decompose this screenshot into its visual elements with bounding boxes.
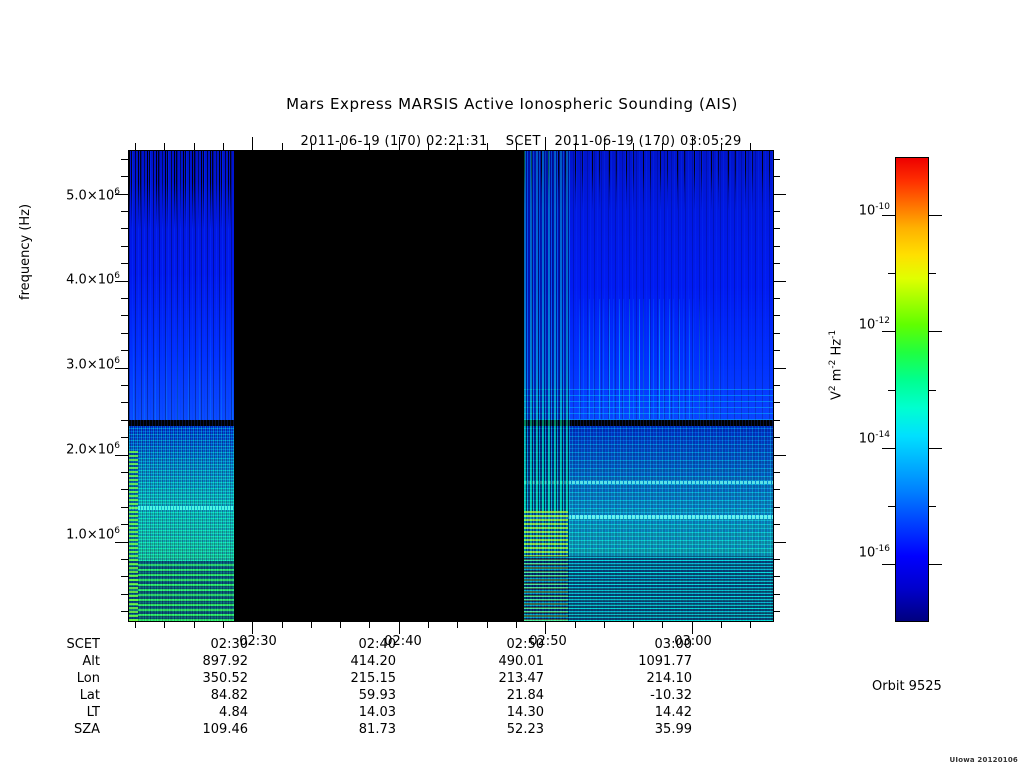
y-tick-right-minor	[773, 559, 780, 560]
y-tick-minor	[121, 385, 128, 386]
x-tick-major	[545, 621, 546, 634]
colorbar-tick-label-2: 10-12	[838, 316, 890, 332]
ephemeris-cell: 109.46	[100, 721, 248, 738]
ephemeris-cell: 59.93	[248, 687, 396, 704]
y-tick-minor	[121, 211, 128, 212]
x-tick-top-minor	[311, 143, 312, 150]
table-row: Lat 84.82 59.93 21.84 -10.32	[0, 687, 692, 704]
y-tick-minor	[121, 315, 128, 316]
y-tick-right-minor	[773, 211, 780, 212]
y-tick-minor	[121, 524, 128, 525]
x-tick-minor	[282, 621, 283, 628]
y-tick-minor	[121, 611, 128, 612]
x-tick-top-minor	[223, 143, 224, 150]
table-row: SZA 109.46 81.73 52.23 35.99	[0, 721, 692, 738]
y-tick-minor	[121, 298, 128, 299]
table-row: SCET 02:30 02:40 02:50 03:00	[0, 636, 692, 653]
subtitle-timebase: SCET	[506, 134, 541, 149]
y-tick-minor	[121, 576, 128, 577]
colorbar-tick-right-minor	[929, 273, 936, 274]
y-tick-label-5: 5.0×106	[45, 187, 120, 203]
ephemeris-row-label: Lat	[0, 687, 100, 704]
y-tick-label-1: 1.0×106	[45, 526, 120, 542]
ephemeris-cell: 350.52	[100, 670, 248, 687]
x-tick-top-minor	[428, 143, 429, 150]
y-tick-right-minor	[773, 507, 780, 508]
figure-title: Mars Express MARSIS Active Ionospheric S…	[0, 95, 1024, 113]
colorbar-tick-label-4: 10-16	[838, 544, 890, 560]
x-tick-minor	[223, 621, 224, 628]
ephemeris-cell: 35.99	[544, 721, 692, 738]
x-tick-minor	[604, 621, 605, 628]
x-tick-minor	[575, 621, 576, 628]
colorbar-tick-minor	[888, 506, 895, 507]
y-tick-right-minor	[773, 385, 780, 386]
orbit-label: Orbit 9525	[872, 679, 942, 694]
ephemeris-row-label: SCET	[0, 636, 100, 653]
ephemeris-cell: 414.20	[248, 653, 396, 670]
x-tick-top-minor	[750, 143, 751, 150]
left-bottom-echo-arcs	[129, 561, 234, 621]
ephemeris-table: SCET 02:30 02:40 02:50 03:00 Alt 897.92 …	[0, 636, 692, 738]
y-tick-minor	[121, 176, 128, 177]
y-tick-minor	[121, 594, 128, 595]
x-tick-major	[692, 621, 693, 634]
y-tick-minor	[121, 472, 128, 473]
colorbar-tick-right-major	[929, 564, 942, 565]
y-tick-minor	[121, 437, 128, 438]
spectrogram-plot[interactable]	[128, 150, 774, 622]
x-tick-major	[252, 621, 253, 634]
x-tick-top-minor	[194, 143, 195, 150]
x-tick-top-minor	[604, 143, 605, 150]
y-tick-right-major	[773, 194, 786, 195]
y-tick-right-minor	[773, 159, 780, 160]
colorbar-tick-major	[882, 331, 895, 332]
y-tick-label-2: 2.0×106	[45, 441, 120, 457]
x-tick-minor	[633, 621, 634, 628]
ephemeris-cell: 84.82	[100, 687, 248, 704]
ephemeris-cell: 14.03	[248, 704, 396, 721]
subtitle-end-time: 2011-06-19 (170) 03:05:29	[554, 134, 741, 149]
x-tick-top-major	[399, 137, 400, 150]
x-tick-top-minor	[369, 143, 370, 150]
x-tick-top-minor	[164, 143, 165, 150]
colorbar-tick-major	[882, 448, 895, 449]
ephemeris-row-label: Lon	[0, 670, 100, 687]
spectrogram-data-block-left	[129, 151, 234, 621]
y-tick-right-minor	[773, 611, 780, 612]
colorbar-tick-major	[882, 215, 895, 216]
spectrogram-data-block-right	[524, 151, 773, 621]
left-resonance-line	[129, 506, 234, 510]
x-tick-top-minor	[721, 143, 722, 150]
ephemeris-cell: 14.42	[544, 704, 692, 721]
colorbar-gradient	[895, 157, 929, 622]
ephemeris-cell: 14.30	[396, 704, 544, 721]
x-tick-top-minor	[282, 143, 283, 150]
x-tick-top-minor	[662, 143, 663, 150]
subtitle-spacer-2	[541, 134, 555, 149]
colorbar[interactable]	[895, 157, 929, 622]
y-tick-right-minor	[773, 437, 780, 438]
ephemeris-cell: 897.92	[100, 653, 248, 670]
x-tick-minor	[662, 621, 663, 628]
left-bright-green-column	[129, 451, 138, 621]
x-tick-major	[399, 621, 400, 634]
y-tick-right-minor	[773, 350, 780, 351]
table-row: Lon 350.52 215.15 213.47 214.10	[0, 670, 692, 687]
x-tick-top-minor	[575, 143, 576, 150]
x-tick-minor	[311, 621, 312, 628]
x-tick-top-major	[252, 137, 253, 150]
x-tick-top-major	[692, 137, 693, 150]
ephemeris-cell: 215.15	[248, 670, 396, 687]
ephemeris-row-label: LT	[0, 704, 100, 721]
y-tick-right-major	[773, 542, 786, 543]
colorbar-unit-label: V2 m-2 Hz-1	[828, 330, 844, 400]
y-tick-minor	[121, 559, 128, 560]
colorbar-tick-right-major	[929, 215, 942, 216]
colorbar-tick-minor	[888, 390, 895, 391]
ephemeris-cell: 21.84	[396, 687, 544, 704]
left-upper-cyan-striping	[129, 151, 234, 422]
ephemeris-cell: 02:50	[396, 636, 544, 653]
y-tick-right-minor	[773, 420, 780, 421]
y-tick-right-minor	[773, 176, 780, 177]
y-tick-right-minor	[773, 315, 780, 316]
ephemeris-cell: 213.47	[396, 670, 544, 687]
x-tick-minor	[516, 621, 517, 628]
y-tick-minor	[121, 263, 128, 264]
y-tick-minor	[121, 420, 128, 421]
table-row: Alt 897.92 414.20 490.01 1091.77	[0, 653, 692, 670]
y-tick-minor	[121, 402, 128, 403]
x-tick-top-minor	[340, 143, 341, 150]
y-tick-right-minor	[773, 489, 780, 490]
y-tick-right-minor	[773, 228, 780, 229]
y-tick-label-4: 4.0×106	[45, 271, 120, 287]
ephemeris-grid: SCET 02:30 02:40 02:50 03:00 Alt 897.92 …	[0, 636, 692, 738]
y-tick-right-major	[773, 455, 786, 456]
y-tick-minor	[121, 246, 128, 247]
x-tick-minor	[721, 621, 722, 628]
colorbar-tick-right-major	[929, 448, 942, 449]
y-tick-major	[115, 455, 128, 456]
y-tick-right-major	[773, 368, 786, 369]
y-tick-right-minor	[773, 298, 780, 299]
y-tick-right-minor	[773, 263, 780, 264]
y-tick-right-minor	[773, 333, 780, 334]
x-tick-minor	[428, 621, 429, 628]
subtitle-spacer-1	[488, 134, 506, 149]
y-tick-major	[115, 368, 128, 369]
x-tick-minor	[750, 621, 751, 628]
table-row: LT 4.84 14.03 14.30 14.42	[0, 704, 692, 721]
y-tick-right-minor	[773, 402, 780, 403]
colorbar-tick-right-minor	[929, 506, 936, 507]
y-tick-right-minor	[773, 246, 780, 247]
x-tick-top-minor	[516, 143, 517, 150]
x-tick-top-minor	[633, 143, 634, 150]
ephemeris-cell: 52.23	[396, 721, 544, 738]
subtitle-start-time: 2011-06-19 (170) 02:21:31	[300, 134, 487, 149]
x-tick-top-minor	[487, 143, 488, 150]
colorbar-tick-right-major	[929, 331, 942, 332]
x-tick-minor	[369, 621, 370, 628]
y-tick-right-minor	[773, 576, 780, 577]
ephemeris-cell: 81.73	[248, 721, 396, 738]
watermark-label: UIowa 20120106	[950, 756, 1019, 764]
y-tick-minor	[121, 489, 128, 490]
right-bottom-fine-banding	[524, 556, 773, 621]
y-tick-minor	[121, 507, 128, 508]
y-tick-label-3: 3.0×106	[45, 356, 120, 372]
x-tick-minor	[487, 621, 488, 628]
ephemeris-cell: 214.10	[544, 670, 692, 687]
colorbar-tick-minor	[888, 273, 895, 274]
y-tick-right-major	[773, 281, 786, 282]
y-tick-major	[115, 194, 128, 195]
y-tick-right-minor	[773, 524, 780, 525]
ephemeris-cell: 490.01	[396, 653, 544, 670]
x-tick-top-minor	[135, 143, 136, 150]
ephemeris-row-label: SZA	[0, 721, 100, 738]
ephemeris-cell: -10.32	[544, 687, 692, 704]
y-axis-title: frequency (Hz)	[18, 204, 33, 300]
ephemeris-row-label: Alt	[0, 653, 100, 670]
colorbar-tick-label-3: 10-14	[838, 430, 890, 446]
y-tick-minor	[121, 228, 128, 229]
colorbar-tick-major	[882, 564, 895, 565]
ephemeris-cell: 02:40	[248, 636, 396, 653]
x-tick-top-minor	[457, 143, 458, 150]
colorbar-tick-right-minor	[929, 390, 936, 391]
y-tick-major	[115, 281, 128, 282]
x-tick-minor	[164, 621, 165, 628]
ephemeris-cell: 03:00	[544, 636, 692, 653]
x-tick-minor	[194, 621, 195, 628]
y-tick-right-minor	[773, 594, 780, 595]
y-tick-major	[115, 542, 128, 543]
x-tick-minor	[340, 621, 341, 628]
x-tick-minor	[457, 621, 458, 628]
x-tick-top-major	[545, 137, 546, 150]
ephemeris-cell: 4.84	[100, 704, 248, 721]
y-tick-right-minor	[773, 472, 780, 473]
y-tick-minor	[121, 333, 128, 334]
ephemeris-body: SCET 02:30 02:40 02:50 03:00 Alt 897.92 …	[0, 636, 692, 738]
x-tick-minor	[135, 621, 136, 628]
ephemeris-cell: 02:30	[100, 636, 248, 653]
y-tick-minor	[121, 350, 128, 351]
figure-root: Mars Express MARSIS Active Ionospheric S…	[0, 0, 1024, 768]
y-tick-minor	[121, 159, 128, 160]
spectrogram-data-gap	[234, 151, 524, 621]
ephemeris-cell: 1091.77	[544, 653, 692, 670]
